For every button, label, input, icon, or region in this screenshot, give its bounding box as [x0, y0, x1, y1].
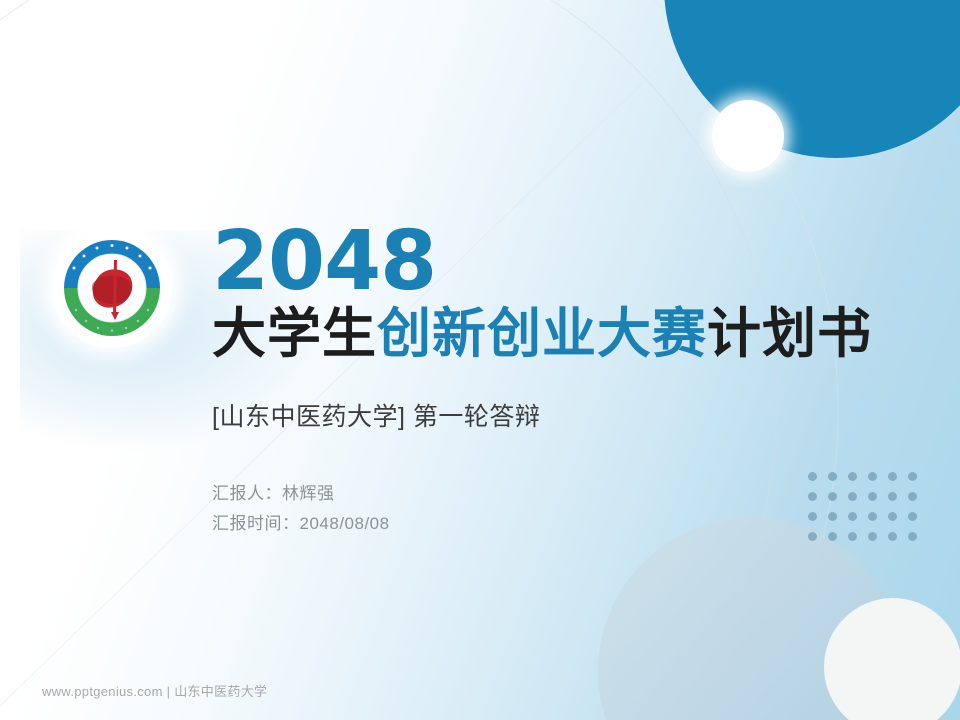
soft-circle-decoration-bottom: [598, 518, 904, 720]
logo-emblem-icon: [58, 234, 166, 342]
subtitle: [山东中医药大学] 第一轮答辩: [212, 397, 872, 433]
presenter-line: 汇报人：林辉强: [212, 479, 872, 509]
white-circle-decoration-bottom: [824, 598, 960, 720]
headline-segment-1: 大学生: [212, 302, 377, 365]
university-logo: [52, 228, 172, 348]
headline-segment-2: 创新创业大赛: [377, 302, 707, 365]
title-text-block: 2048 大学生创新创业大赛计划书 [山东中医药大学] 第一轮答辩 汇报人：林辉…: [212, 222, 872, 539]
presentation-slide: 2048 大学生创新创业大赛计划书 [山东中医药大学] 第一轮答辩 汇报人：林辉…: [0, 0, 960, 720]
white-circle-decoration-top: [712, 100, 784, 172]
headline-segment-3: 计划书: [707, 302, 872, 365]
presenter-meta: 汇报人：林辉强 汇报时间：2048/08/08: [212, 479, 872, 539]
footer-credit: www.pptgenius.com | 山东中医药大学: [42, 681, 267, 700]
year-title: 2048: [212, 222, 872, 302]
blue-circle-decoration: [664, 0, 960, 158]
report-date-line: 汇报时间：2048/08/08: [212, 509, 872, 539]
headline: 大学生创新创业大赛计划书: [212, 306, 872, 363]
